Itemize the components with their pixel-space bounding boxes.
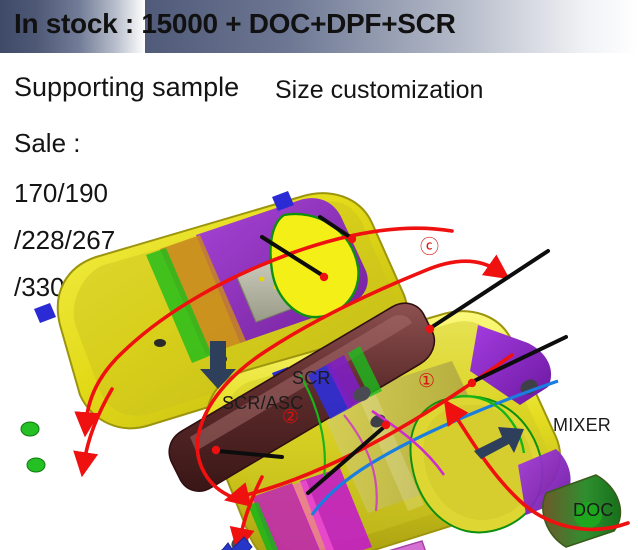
- size-customization-text: Size customization: [275, 76, 483, 105]
- callout-label-scr: SCR: [292, 368, 331, 389]
- callout-label-mixer: MIXER: [553, 415, 611, 436]
- callout-label-doc: DOC: [573, 500, 614, 521]
- sale-label: Sale :: [14, 128, 81, 159]
- stage-marker-1: ①: [418, 371, 435, 392]
- supporting-sample-text: Supporting sample: [14, 72, 239, 103]
- product-banner: In stock : 15000 + DOC+DPF+SCR Supportin…: [0, 0, 638, 550]
- page-title: In stock : 15000 + DOC+DPF+SCR: [14, 8, 456, 40]
- stage-marker-3: ⓒ: [420, 236, 439, 258]
- callout-label-scr-asc: SCR/ASC: [222, 393, 303, 414]
- aftertreatment-diagram: ⓒ ①: [0, 175, 638, 550]
